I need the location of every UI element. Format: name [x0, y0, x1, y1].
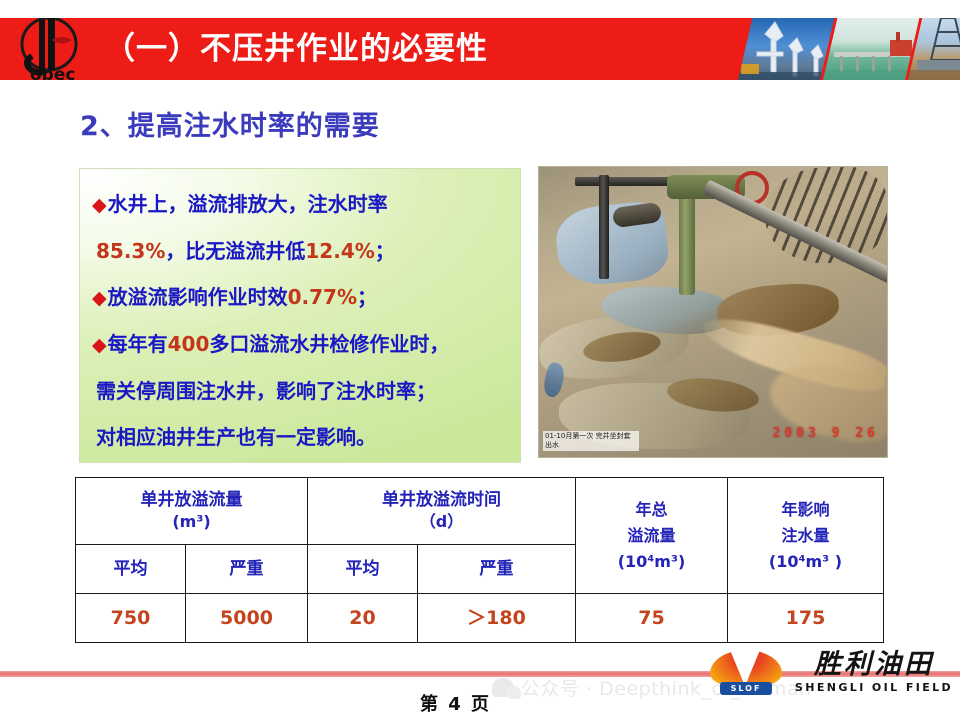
- callout-line-2-seg3: 12.4%: [305, 239, 374, 263]
- callout-line-1: ◆水井上，溢流排放大，注水时率: [92, 181, 510, 228]
- section-title: 2、提高注水时率的需要: [80, 104, 380, 143]
- callout-line-3-seg3: ；: [357, 285, 377, 309]
- shengli-brand-en: SHENGLI OIL FIELD: [794, 680, 954, 696]
- page-title: （一）不压井作业的必要性: [104, 26, 488, 72]
- table-subheader-flow-severe: 严重: [186, 545, 308, 594]
- shengli-brand: 胜利油田 SHENGLI OIL FIELD: [794, 650, 954, 696]
- annual-total-line2: 溢流量: [577, 523, 726, 549]
- callout-line-2-seg2: ，比无溢流井低: [165, 239, 305, 263]
- group-header-time-title: 单井放溢流时间: [382, 490, 501, 510]
- sinopec-logo-icon: opec: [12, 18, 84, 80]
- svg-text:opec: opec: [30, 65, 75, 80]
- group-header-time-unit: （d）: [309, 511, 574, 533]
- photo-pipe-horizontal: [575, 177, 671, 186]
- callout-line-3-seg2: 0.77%: [288, 285, 357, 309]
- table-cell-time-severe: ＞180: [418, 594, 576, 643]
- table-cell-flow-severe: 5000: [186, 594, 308, 643]
- callout-line-6: 对相应油井生产也有一定影响。: [92, 414, 510, 460]
- slof-v-mark: [730, 650, 760, 686]
- table-group-header-time: 单井放溢流时间 （d）: [308, 478, 576, 545]
- header-banner: opec （一）不压井作业的必要性: [0, 18, 960, 80]
- annual-affected-line2: 注水量: [729, 523, 882, 549]
- table-subheader-flow-average: 平均: [76, 545, 186, 594]
- callout-line-5: 需关停周围注水井，影响了注水时率；: [92, 368, 510, 414]
- annual-affected-line1: 年影响: [729, 497, 882, 523]
- table-group-header-flow: 单井放溢流量 (m³): [76, 478, 308, 545]
- photo-datestamp: 2003 9 26: [773, 426, 879, 441]
- wechat-icon: [492, 678, 514, 697]
- callout-line-2-seg4: ；: [375, 239, 395, 263]
- slof-logo-icon: SLOF: [710, 650, 782, 700]
- callout-line-1-text: 水井上，溢流排放大，注水时率: [108, 192, 388, 216]
- callout-line-4: ◆每年有400多口溢流水井检修作业时，: [92, 321, 510, 368]
- table-cell-annual-total-overflow: 75: [576, 594, 728, 643]
- diamond-bullet-icon: ◆: [92, 334, 107, 356]
- wellsite-photo: 01-10月第一次 完井坐封套出水 2003 9 26: [538, 166, 888, 458]
- callout-box: ◆水井上，溢流排放大，注水时率 85.3%，比无溢流井低12.4%； ◆放溢流影…: [79, 168, 521, 463]
- callout-line-3-seg1: 放溢流影响作业时效: [108, 285, 288, 309]
- callout-line-4-seg1: 每年有: [108, 332, 168, 356]
- callout-line-3: ◆放溢流影响作业时效0.77%；: [92, 274, 510, 321]
- photo-pipe-vertical: [599, 175, 609, 279]
- annual-total-line1: 年总: [577, 497, 726, 523]
- photo-caption: 01-10月第一次 完井坐封套出水: [543, 431, 639, 451]
- annual-total-unit: (10⁴m³): [577, 549, 726, 575]
- table-row: 750 5000 20 ＞180 75 175: [76, 594, 884, 643]
- callout-line-4-seg3: 多口溢流水井检修作业时，: [209, 332, 449, 356]
- group-header-flow-unit: (m³): [77, 511, 306, 533]
- overflow-statistics-table: 单井放溢流量 (m³) 单井放溢流时间 （d） 年总 溢流量 (10⁴m³) 年…: [75, 477, 884, 643]
- diamond-bullet-icon: ◆: [92, 194, 107, 216]
- table-cell-annual-affected-injection: 175: [728, 594, 884, 643]
- table-cell-time-average: 20: [308, 594, 418, 643]
- callout-line-2: 85.3%，比无溢流井低12.4%；: [92, 228, 510, 274]
- page-number: 第 4 页: [420, 690, 491, 716]
- table-header-row-1: 单井放溢流量 (m³) 单井放溢流时间 （d） 年总 溢流量 (10⁴m³) 年…: [76, 478, 884, 545]
- slof-band-text: SLOF: [720, 682, 772, 695]
- callout-line-4-seg2: 400: [168, 332, 210, 356]
- shengli-brand-cn: 胜利油田: [794, 650, 954, 680]
- diamond-bullet-icon: ◆: [92, 287, 107, 309]
- table-subheader-time-severe: 严重: [418, 545, 576, 594]
- callout-line-2-seg1: 85.3%: [96, 239, 165, 263]
- table-header-annual-affected-injection: 年影响 注水量 (10⁴m³ ): [728, 478, 884, 594]
- table-header-annual-total-overflow: 年总 溢流量 (10⁴m³): [576, 478, 728, 594]
- table-subheader-time-average: 平均: [308, 545, 418, 594]
- table-cell-flow-average: 750: [76, 594, 186, 643]
- group-header-flow-title: 单井放溢流量: [141, 490, 243, 510]
- annual-affected-unit: (10⁴m³ ): [729, 549, 882, 575]
